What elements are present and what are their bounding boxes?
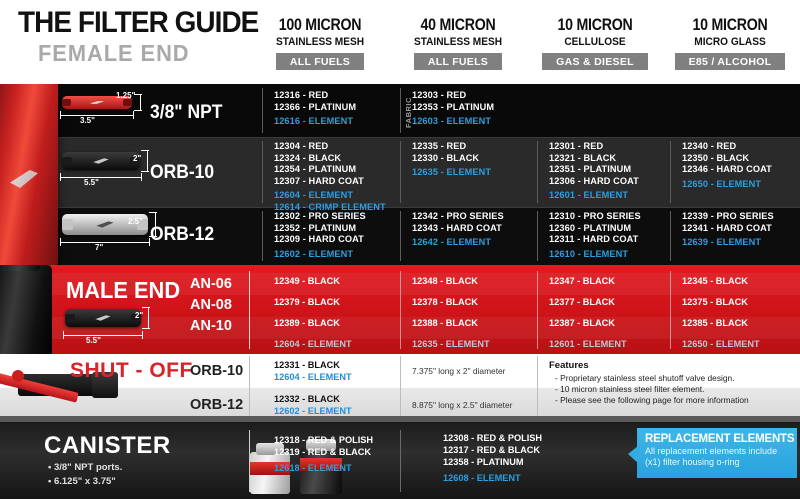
filter-product-image-male — [65, 309, 141, 327]
red-canister-product-image — [0, 84, 58, 265]
part-number: 12351 - PLATINUM — [549, 164, 677, 176]
part-number: 12358 - PLATINUM — [443, 456, 542, 468]
part-number-element: 12604 - ELEMENT — [274, 372, 352, 384]
part-number-element: 12604 - ELEMENT — [274, 334, 402, 354]
part-number: 12303 - RED — [412, 90, 540, 102]
row-label-npt: 3/8" NPT — [150, 102, 222, 124]
parts-cell-npt-100: 12316 - RED 12366 - PLATINUM 12616 - ELE… — [274, 90, 402, 128]
row-label-orb10: ORB-10 — [150, 162, 214, 184]
features-title: Features — [549, 360, 749, 371]
column-micron-label: 10 MICRON — [674, 16, 786, 35]
dimension-length-orb12: 7" — [95, 243, 103, 252]
feature-item: - Proprietary stainless steel shutoff va… — [549, 373, 749, 384]
female-end-section: 3.5" 1.25" 3/8" NPT FABRIC 12316 - RED 1… — [0, 84, 800, 265]
column-header-100-micron: 100 MICRON STAINLESS MESH ALL FUELS — [255, 16, 385, 70]
column-header-10-micron-micro-glass: 10 MICRON MICRO GLASS E85 / ALCOHOL — [665, 16, 795, 70]
part-number: 12353 - PLATINUM — [412, 102, 540, 114]
column-divider — [249, 430, 250, 492]
column-divider — [262, 88, 263, 133]
parts-cell-male-100: 12349 - BLACK 12379 - BLACK 12389 - BLAC… — [274, 271, 402, 354]
row-label-shutoff-orb10: ORB-10 — [190, 363, 243, 379]
dimension-length-orb10: 5.5" — [84, 178, 99, 187]
parts-cell-male-10glass: 12345 - BLACK 12375 - BLACK 12385 - BLAC… — [682, 271, 800, 354]
part-number: 12360 - PLATINUM — [549, 223, 677, 235]
part-number-element: 12635 - ELEMENT — [412, 334, 540, 354]
part-number: 12346 - HARD COAT — [682, 164, 800, 176]
dimension-height-male: 2" — [135, 311, 143, 320]
part-number: 12306 - HARD COAT — [549, 176, 677, 188]
part-number: 12375 - BLACK — [682, 292, 800, 313]
parts-cell-shutoff-orb10: 12331 - BLACK 12604 - ELEMENT — [274, 360, 352, 383]
dimension-height-orb10: 2" — [133, 154, 141, 163]
parts-cell-orb12-40: 12342 - PRO SERIES 12343 - HARD COAT 126… — [412, 211, 540, 249]
part-number-element: 12642 - ELEMENT — [412, 237, 540, 249]
features-list: Features - Proprietary stainless steel s… — [549, 360, 749, 406]
part-number-element: 12639 - ELEMENT — [682, 237, 800, 249]
part-number: 12378 - BLACK — [412, 292, 540, 313]
parts-cell-canister-right: 12308 - RED & POLISH 12317 - RED & BLACK… — [443, 432, 542, 484]
parts-cell-orb12-10cell: 12310 - PRO SERIES 12360 - PLATINUM 1231… — [549, 211, 677, 260]
replacement-elements-badge: REPLACEMENT ELEMENTS All replacement ele… — [637, 428, 797, 478]
part-number-element: 12635 - ELEMENT — [412, 167, 540, 179]
part-number: 12345 - BLACK — [682, 271, 800, 292]
part-number: 12379 - BLACK — [274, 292, 402, 313]
column-fuel-badge: E85 / ALCOHOL — [675, 53, 786, 70]
part-number: 12354 - PLATINUM — [274, 164, 402, 176]
dimension-height-orb12: 2.5" — [128, 217, 143, 226]
shutoff-dimensions-orb10: 7.375" long x 2" diameter — [412, 366, 505, 376]
part-number: 12377 - BLACK — [549, 292, 677, 313]
part-number-element: 12608 - ELEMENT — [443, 472, 542, 484]
page-title: THE FILTER GUIDE — [18, 6, 258, 40]
part-number: 12324 - BLACK — [274, 153, 402, 165]
section-title-male: MALE END — [66, 277, 180, 304]
column-media-label: MICRO GLASS — [670, 36, 790, 48]
part-number: 12335 - RED — [412, 141, 540, 153]
parts-cell-orb10-10glass: 12340 - RED 12350 - BLACK 12346 - HARD C… — [682, 141, 800, 190]
parts-cell-orb12-100: 12302 - PRO SERIES 12352 - PLATINUM 1230… — [274, 211, 402, 260]
row-label-shutoff-orb12: ORB-12 — [190, 397, 243, 413]
section-subtitle-female: FEMALE END — [38, 40, 190, 67]
part-number: 12366 - PLATINUM — [274, 102, 402, 114]
part-number: 12339 - PRO SERIES — [682, 211, 800, 223]
part-number: 12388 - BLACK — [412, 313, 540, 334]
column-header-10-micron-cellulose: 10 MICRON CELLULOSE GAS & DIESEL — [530, 16, 660, 70]
part-number: 12302 - PRO SERIES — [274, 211, 402, 223]
feature-item: - Please see the following page for more… — [549, 395, 749, 406]
column-media-label: STAINLESS MESH — [260, 36, 380, 48]
part-number: 12343 - HARD COAT — [412, 223, 540, 235]
male-end-section: MALE END 5.5" 2" AN-06 AN-08 AN-10 12349… — [0, 265, 800, 354]
column-divider — [400, 356, 401, 420]
column-media-label: STAINLESS MESH — [398, 36, 518, 48]
part-number: 12340 - RED — [682, 141, 800, 153]
part-number: 12311 - HARD COAT — [549, 234, 677, 246]
part-number-element: 12603 - ELEMENT — [412, 116, 540, 128]
part-number: 12307 - HARD COAT — [274, 176, 402, 188]
part-number: 12319 - RED & BLACK — [274, 446, 373, 458]
row-label-an08: AN-08 — [190, 297, 232, 313]
part-number: 12308 - RED & POLISH — [443, 432, 542, 444]
parts-cell-npt-40: 12303 - RED 12353 - PLATINUM 12603 - ELE… — [412, 90, 540, 128]
canister-bullet: • 3/8" NPT ports. — [48, 462, 122, 473]
shutoff-section: SHUT - OFF ORB-10 ORB-12 12331 - BLACK 1… — [0, 354, 800, 422]
part-number-element: 12610 - ELEMENT — [549, 249, 677, 261]
dimension-height-npt: 1.25" — [116, 91, 135, 100]
part-number-element: 12650 - ELEMENT — [682, 179, 800, 191]
column-divider — [262, 211, 263, 261]
row-label-orb12: ORB-12 — [150, 224, 214, 246]
part-number: 12317 - RED & BLACK — [443, 444, 542, 456]
parts-cell-male-10cell: 12347 - BLACK 12377 - BLACK 12387 - BLAC… — [549, 271, 677, 354]
part-number-element: 12601 - ELEMENT — [549, 334, 677, 354]
row-label-an06: AN-06 — [190, 276, 232, 292]
part-number: 12349 - BLACK — [274, 271, 402, 292]
filter-product-image-orb10 — [62, 152, 140, 170]
part-number: 12387 - BLACK — [549, 313, 677, 334]
part-number: 12389 - BLACK — [274, 313, 402, 334]
column-divider — [537, 356, 538, 420]
parts-cell-orb10-10cell: 12301 - RED 12321 - BLACK 12351 - PLATIN… — [549, 141, 677, 202]
part-number: 12310 - PRO SERIES — [549, 211, 677, 223]
column-header-40-micron: 40 MICRON STAINLESS MESH ALL FUELS — [393, 16, 523, 70]
part-number-element: 12602 - ELEMENT — [274, 249, 402, 261]
part-number: 12331 - BLACK — [274, 360, 352, 372]
part-number: 12385 - BLACK — [682, 313, 800, 334]
filter-guide-page: THE FILTER GUIDE FEMALE END 100 MICRON S… — [0, 0, 800, 499]
column-divider — [262, 141, 263, 203]
column-fuel-badge: ALL FUELS — [414, 53, 502, 70]
section-title-canister: CANISTER — [44, 432, 171, 460]
part-number: 12352 - PLATINUM — [274, 223, 402, 235]
parts-cell-orb10-40: 12335 - RED 12330 - BLACK 12635 - ELEMEN… — [412, 141, 540, 179]
part-number: 12347 - BLACK — [549, 271, 677, 292]
column-micron-label: 10 MICRON — [539, 16, 651, 35]
part-number-element: 12604 - ELEMENT — [274, 190, 402, 202]
part-number: 12309 - HARD COAT — [274, 234, 402, 246]
part-number: 12304 - RED — [274, 141, 402, 153]
dimension-length-npt: 3.5" — [80, 116, 95, 125]
column-divider — [249, 271, 250, 349]
badge-title: REPLACEMENT ELEMENTS — [637, 428, 797, 446]
badge-text: All replacement elements include (x1) fi… — [637, 446, 797, 468]
part-number-element: 12616 - ELEMENT — [274, 116, 402, 128]
part-number: 12330 - BLACK — [412, 153, 540, 165]
column-fuel-badge: ALL FUELS — [276, 53, 364, 70]
parts-cell-orb10-100: 12304 - RED 12324 - BLACK 12354 - PLATIN… — [274, 141, 402, 214]
part-number: 12348 - BLACK — [412, 271, 540, 292]
parts-cell-shutoff-orb12: 12332 - BLACK 12602 - ELEMENT — [274, 394, 352, 417]
column-fuel-badge: GAS & DIESEL — [542, 53, 648, 70]
dimension-length-male: 5.5" — [86, 336, 101, 345]
part-number-element: 12618 - ELEMENT — [274, 462, 373, 474]
shutoff-dimensions-orb12: 8.875" long x 2.5" diameter — [412, 400, 512, 410]
column-divider — [400, 430, 401, 492]
part-number: 12341 - HARD COAT — [682, 223, 800, 235]
part-number: 12332 - BLACK — [274, 394, 352, 406]
section-title-shutoff: SHUT - OFF — [70, 359, 193, 383]
column-media-label: CELLULOSE — [535, 36, 655, 48]
part-number: 12350 - BLACK — [682, 153, 800, 165]
black-canister-product-image — [0, 265, 52, 354]
page-header: THE FILTER GUIDE FEMALE END 100 MICRON S… — [0, 0, 800, 84]
part-number: 12342 - PRO SERIES — [412, 211, 540, 223]
part-number-element: 12601 - ELEMENT — [549, 190, 677, 202]
column-micron-label: 100 MICRON — [264, 16, 376, 35]
part-number: 12318 - RED & POLISH — [274, 434, 373, 446]
parts-cell-canister-left: 12318 - RED & POLISH 12319 - RED & BLACK… — [274, 434, 373, 474]
parts-cell-orb12-10glass: 12339 - PRO SERIES 12341 - HARD COAT 126… — [682, 211, 800, 249]
part-number: 12321 - BLACK — [549, 153, 677, 165]
column-divider — [249, 356, 250, 420]
part-number: 12316 - RED — [274, 90, 402, 102]
part-number-element: 12650 - ELEMENT — [682, 334, 800, 354]
column-micron-label: 40 MICRON — [402, 16, 514, 35]
part-number: 12301 - RED — [549, 141, 677, 153]
canister-bullet: • 6.125" x 3.75" — [48, 476, 116, 487]
row-label-an10: AN-10 — [190, 318, 232, 334]
feature-item: - 10 micron stainless steel filter eleme… — [549, 384, 749, 395]
parts-cell-male-40: 12348 - BLACK 12378 - BLACK 12388 - BLAC… — [412, 271, 540, 354]
